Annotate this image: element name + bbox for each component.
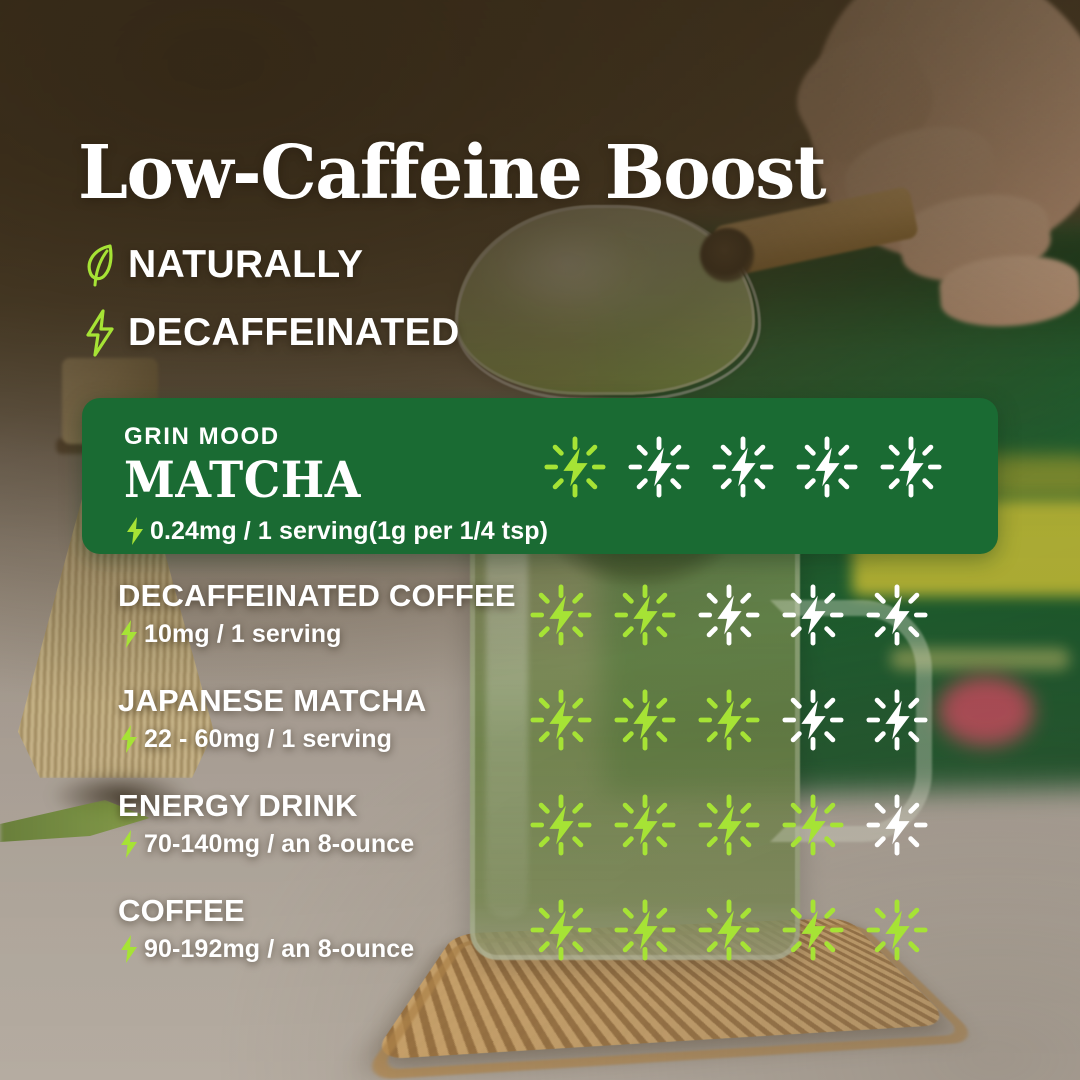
page-title: Low-Caffeine Boost (78, 132, 825, 214)
claim-item-naturally: NATURALLY (72, 236, 460, 294)
bolt-icon (124, 516, 146, 546)
highlight-card-matcha[interactable]: GRIN MOOD MATCHA 0.24mg / 1 serving(1g p… (82, 398, 998, 554)
rating-bolts (530, 794, 928, 856)
rating-bolts (530, 899, 928, 961)
claim-item-decaffeinated: DECAFFEINATED (72, 304, 460, 362)
bolt-icon-filled (698, 899, 760, 961)
rating-bolts (530, 689, 928, 751)
bolt-icon-empty (866, 689, 928, 751)
row-amount: 90-192mg / an 8-ounce (144, 935, 414, 964)
bolt-icon (72, 308, 128, 358)
bolt-icon-filled (614, 689, 676, 751)
leaf-icon (72, 241, 128, 289)
bolt-icon-filled (866, 899, 928, 961)
row-energy-drink: ENERGY DRINK 70-140mg / an 8-ounce (118, 788, 998, 893)
row-amount: 70-140mg / an 8-ounce (144, 830, 414, 859)
content-layer: Low-Caffeine Boost NATURALLY DECAFFE (0, 0, 1080, 1080)
bolt-icon-filled (614, 899, 676, 961)
bolt-icon-empty (782, 689, 844, 751)
rating-bolts (530, 584, 928, 646)
bolt-icon-filled (544, 436, 606, 498)
bolt-icon-empty (866, 794, 928, 856)
bolt-icon-filled (530, 689, 592, 751)
bolt-icon-filled (698, 689, 760, 751)
product-name: MATCHA (124, 452, 514, 508)
row-decaffeinated-coffee: DECAFFEINATED COFFEE 10mg / 1 serving (118, 578, 998, 683)
row-japanese-matcha: JAPANESE MATCHA 22 - 60mg / 1 serving (118, 683, 998, 788)
bolt-icon (118, 829, 140, 859)
claim-label: NATURALLY (128, 243, 363, 287)
row-amount: 22 - 60mg / 1 serving (144, 725, 392, 754)
caffeine-amount: 0.24mg / 1 serving(1g per 1/4 tsp) (150, 517, 548, 546)
row-amount: 10mg / 1 serving (144, 620, 342, 649)
bolt-icon (118, 724, 140, 754)
comparison-rows: DECAFFEINATED COFFEE 10mg / 1 serving JA… (118, 578, 998, 998)
bolt-icon (118, 619, 140, 649)
bolt-icon-filled (614, 794, 676, 856)
bolt-icon-empty (698, 584, 760, 646)
bolt-icon-filled (782, 899, 844, 961)
row-coffee: COFFEE 90-192mg / an 8-ounce (118, 893, 998, 998)
bolt-icon-empty (796, 436, 858, 498)
bolt-icon-empty (628, 436, 690, 498)
claims-list: NATURALLY DECAFFEINATED (72, 236, 460, 372)
claim-label: DECAFFEINATED (128, 311, 460, 355)
brand-kicker: GRIN MOOD (124, 424, 548, 450)
bolt-icon-empty (866, 584, 928, 646)
bolt-icon-empty (782, 584, 844, 646)
bolt-icon-filled (530, 899, 592, 961)
bolt-icon-filled (782, 794, 844, 856)
rating-bolts-matcha (544, 436, 942, 498)
caffeine-amount-row: 0.24mg / 1 serving(1g per 1/4 tsp) (124, 516, 548, 546)
infographic-canvas: Low-Caffeine Boost NATURALLY DECAFFE (0, 0, 1080, 1080)
bolt-icon-empty (712, 436, 774, 498)
bolt-icon (118, 934, 140, 964)
bolt-icon-filled (698, 794, 760, 856)
bolt-icon-filled (530, 794, 592, 856)
bolt-icon-empty (880, 436, 942, 498)
bolt-icon-filled (530, 584, 592, 646)
bolt-icon-filled (614, 584, 676, 646)
highlight-card-text: GRIN MOOD MATCHA 0.24mg / 1 serving(1g p… (124, 424, 548, 546)
